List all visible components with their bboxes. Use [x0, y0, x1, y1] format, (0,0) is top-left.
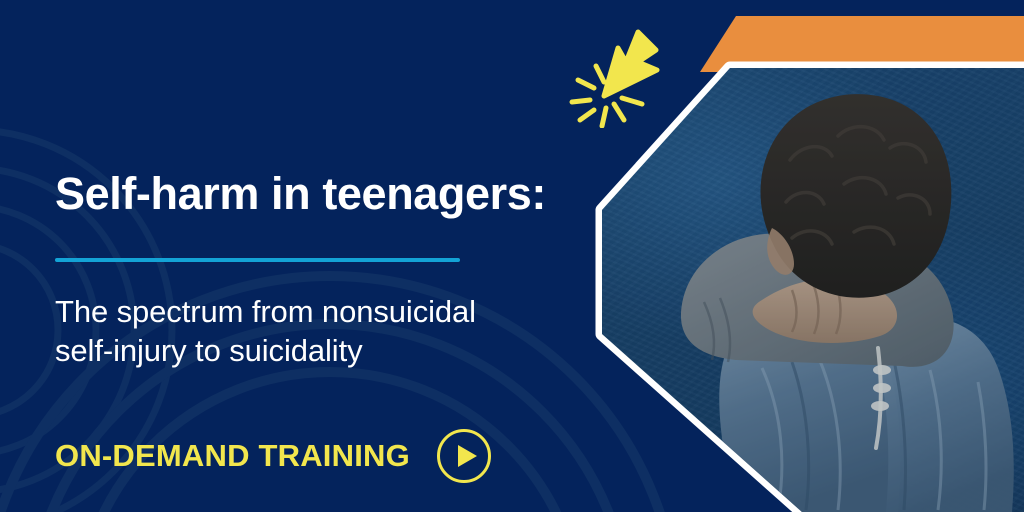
- burst-arrow-icon: [560, 18, 680, 128]
- promo-banner: Self-harm in teenagers: The spectrum fro…: [0, 0, 1024, 512]
- subtitle-line-1: The spectrum from nonsuicidal: [55, 292, 595, 331]
- cta-group[interactable]: ON-DEMAND TRAINING: [55, 428, 492, 484]
- subtitle-line-2: self-injury to suicidality: [55, 331, 595, 370]
- subtitle: The spectrum from nonsuicidal self-injur…: [55, 292, 595, 370]
- page-title: Self-harm in teenagers:: [55, 170, 546, 217]
- cta-label[interactable]: ON-DEMAND TRAINING: [55, 438, 410, 474]
- title-divider: [55, 258, 460, 262]
- play-icon[interactable]: [436, 428, 492, 484]
